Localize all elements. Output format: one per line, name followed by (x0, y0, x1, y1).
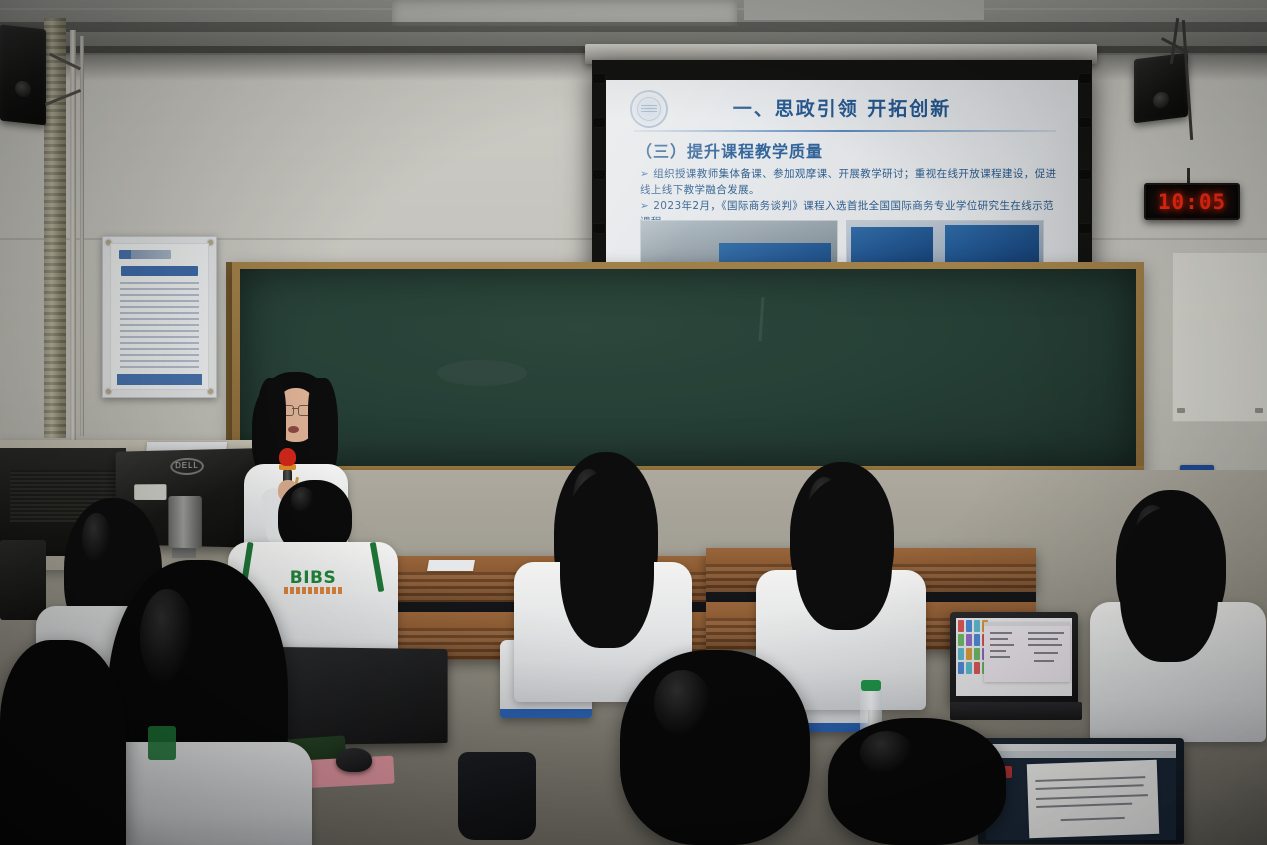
laptop-lid (950, 612, 1078, 704)
hair-highlight (82, 513, 111, 563)
student-hair-overlay (796, 478, 892, 630)
window-text-line (1034, 660, 1054, 662)
microphone-windscreen-icon (279, 448, 296, 466)
browser-toolbar (986, 744, 1176, 751)
hair-highlight (860, 731, 913, 774)
foreground-student-head-center (620, 650, 810, 845)
wall-pipe-2 (80, 36, 84, 436)
poster-sheet (110, 243, 209, 390)
panel-clip-left (1177, 408, 1185, 413)
window-text-line (990, 644, 1014, 646)
window-text-line (1028, 638, 1058, 640)
wall-speaker-right (1134, 53, 1188, 124)
browser-tabs (986, 751, 1176, 758)
speaker-cone-icon (1153, 91, 1169, 109)
slide-bullet-1-text: 组织授课教师集体备课、参加观摩课、开展教学研讨；重视在线开放课程建设，促进线上线… (640, 168, 1057, 196)
screen-sprocket (593, 74, 605, 83)
screen-sprocket (593, 224, 605, 233)
chalk-smudge (437, 360, 527, 386)
screen-sprocket (593, 118, 605, 127)
hair-highlight (654, 670, 711, 736)
wall-speaker-left (0, 25, 46, 126)
chalkboard-surface (240, 269, 1136, 466)
student-far-right (1090, 490, 1266, 740)
wall-white-panel (1172, 252, 1267, 422)
student-hair-overlay (560, 472, 654, 648)
poster-institution-logo (119, 250, 171, 259)
green-chalkboard (232, 262, 1144, 480)
classroom-photo-scene: 10:05 一、思政引领 开拓创新 （三）提升课程教学质量 ➢组织授课教师集体备… (0, 0, 1267, 845)
slide-bullet-1: ➢组织授课教师集体备课、参加观摩课、开展教学研讨；重视在线开放课程建设，促进线上… (640, 166, 1060, 198)
eyeglasses-bridge-icon (292, 408, 299, 409)
desk-paper (427, 560, 475, 571)
hair-highlight (291, 487, 313, 512)
document-text-line (1035, 776, 1145, 781)
screen-sprocket (593, 170, 605, 179)
shirt-logo-text: BIBS (290, 568, 336, 588)
window-text-line (990, 656, 1010, 658)
poster-footer-band (117, 374, 202, 385)
screen-sprocket (1079, 118, 1091, 127)
bottle-cap (861, 680, 881, 691)
hair-highlight (140, 589, 194, 686)
laptop-base (950, 702, 1082, 720)
foreground-lanyard (148, 726, 176, 760)
document-text-line (1061, 817, 1125, 821)
laptop-lid (978, 738, 1184, 844)
poster-body-text (120, 282, 199, 371)
lanyard-right (370, 542, 385, 592)
document-text-line (1036, 794, 1148, 799)
foreground-student-head-right (828, 718, 1006, 845)
poster-title-band (121, 266, 198, 276)
window-text-line (1028, 644, 1062, 646)
clock-time-display: 10:05 (1158, 190, 1226, 214)
student-laptop-right (950, 612, 1082, 730)
shirt-logo-subtext (284, 587, 342, 594)
ceiling-beam-front (0, 22, 1267, 32)
bullet-marker-icon: ➢ (640, 200, 649, 212)
bullet-marker-icon: ➢ (640, 168, 649, 180)
foreground-student-head-edge (0, 640, 126, 845)
window-titlebar (984, 622, 1070, 626)
screen-sprocket (1079, 170, 1091, 179)
ceiling-panel-right (744, 0, 984, 20)
laptop-screen (986, 744, 1176, 840)
speaker-cone-icon (15, 80, 31, 98)
panel-clip-right (1255, 408, 1263, 413)
window-text-line (1028, 632, 1064, 634)
screen-sprocket (1079, 74, 1091, 83)
dell-logo: DELL (170, 458, 204, 476)
computer-mouse[interactable] (336, 748, 372, 772)
slide-title-divider (634, 130, 1056, 132)
window-text-line (990, 638, 1008, 640)
student-laptop-bottom-right (978, 738, 1188, 845)
digital-wall-clock: 10:05 (1144, 183, 1240, 220)
wall-conduit-column (44, 18, 66, 438)
presenter-mouth (288, 426, 299, 433)
slide-title: 一、思政引领 开拓创新 (606, 94, 1078, 121)
screen-sprocket (1079, 224, 1091, 233)
wall-notice-poster (102, 236, 217, 398)
slide-subtitle: （三）提升课程教学质量 (636, 138, 823, 162)
student-hair-overlay (1120, 508, 1218, 662)
document-text-line (1036, 784, 1144, 789)
laptop-lid (270, 647, 447, 745)
window-text-line (990, 632, 1012, 634)
window-text-line (1034, 652, 1058, 654)
chalk-smudge (758, 297, 764, 341)
student-backpack (458, 752, 536, 840)
laptop-screen (956, 618, 1072, 696)
laptop-window (984, 622, 1070, 682)
document-window (1027, 760, 1160, 838)
window-text-line (990, 650, 1006, 652)
document-text-line (1036, 803, 1132, 808)
